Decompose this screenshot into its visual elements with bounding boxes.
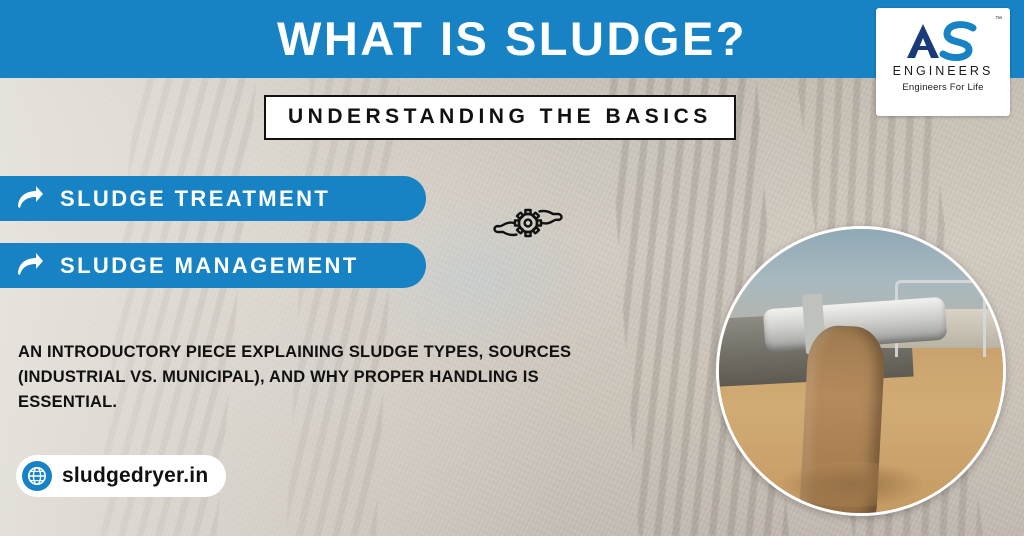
logo-tagline: Engineers For Life: [876, 82, 1010, 93]
globe-icon: [22, 461, 52, 491]
logo-company-name: ENGINEERS: [876, 64, 1010, 78]
feature-pill-label: SLUDGE TREATMENT: [60, 186, 330, 212]
company-logo: ™ ENGINEERS Engineers For Life: [876, 8, 1010, 116]
website-chip[interactable]: sludgedryer.in: [16, 455, 226, 497]
page-title: WHAT IS SLUDGE?: [0, 0, 1024, 78]
arrow-curve-icon: [14, 184, 44, 214]
banner-root: WHAT IS SLUDGE? ™ ENGINEERS Engineers Fo…: [0, 0, 1024, 536]
logo-mark-icon: [876, 18, 1010, 62]
sludge-discharge-photo: [716, 226, 1006, 516]
description-text: AN INTRODUCTORY PIECE EXPLAINING SLUDGE …: [18, 340, 618, 415]
feature-pill-sludge-management[interactable]: SLUDGE MANAGEMENT: [0, 243, 426, 288]
gear-in-hands-icon: [492, 193, 564, 253]
page-subtitle: UNDERSTANDING THE BASICS: [264, 95, 736, 140]
feature-pill-label: SLUDGE MANAGEMENT: [60, 253, 359, 279]
feature-pill-sludge-treatment[interactable]: SLUDGE TREATMENT: [0, 176, 426, 221]
arrow-curve-icon: [14, 251, 44, 281]
website-url: sludgedryer.in: [62, 464, 208, 488]
